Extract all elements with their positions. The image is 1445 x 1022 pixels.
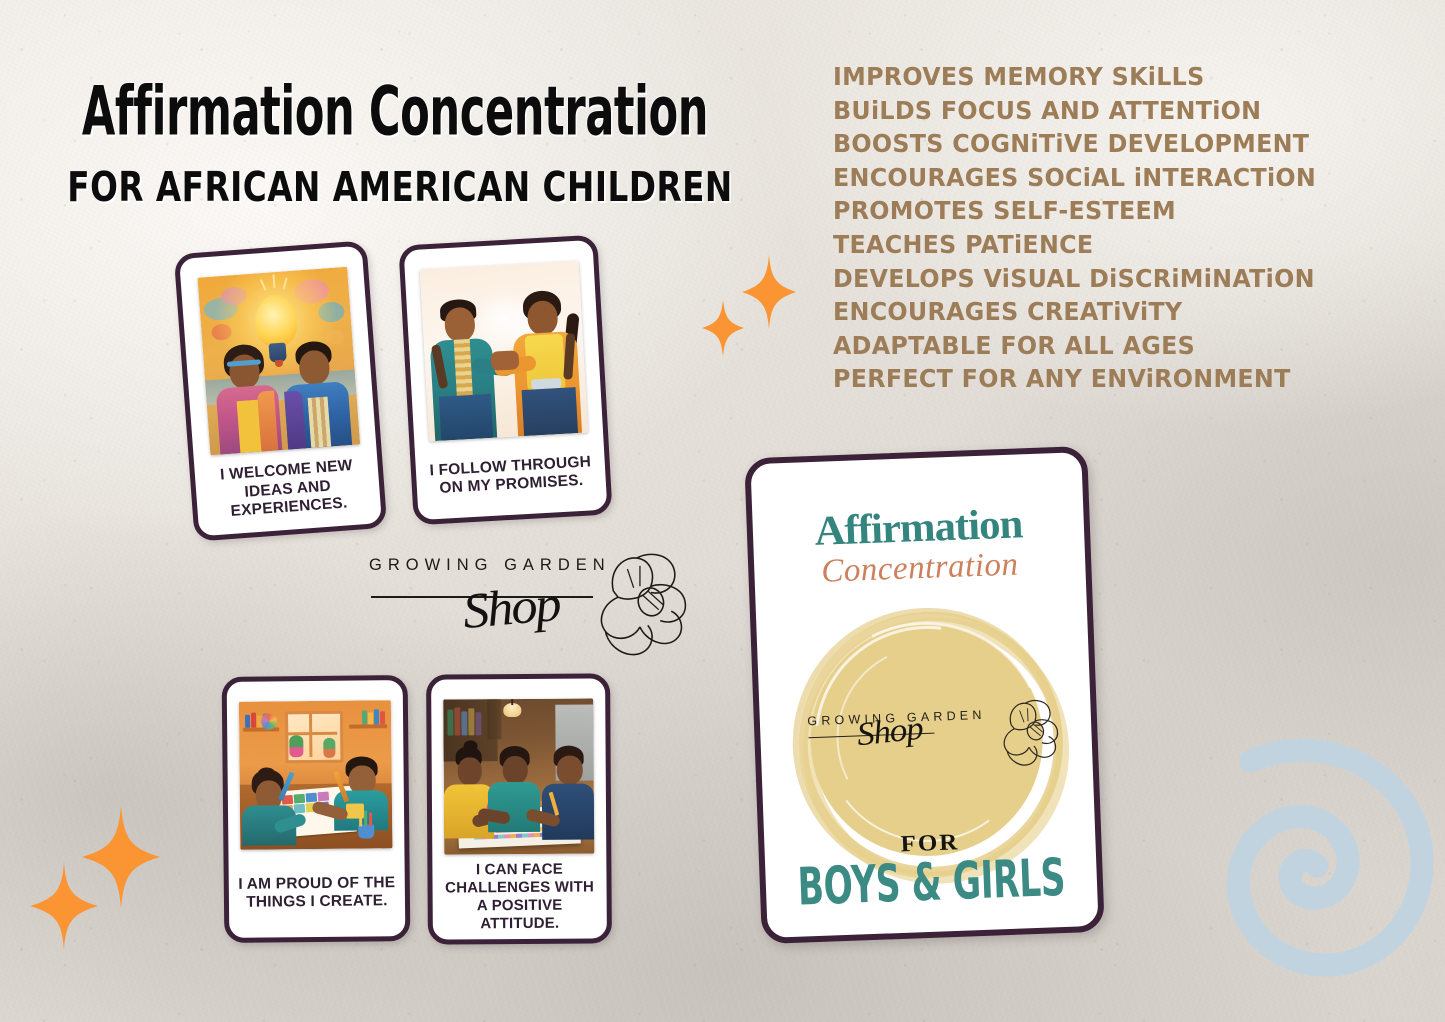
cover-brand-logo: GROWING GARDEN Shop	[807, 706, 1050, 791]
benefit-item: ENCOURAGES CREATiViTY	[833, 295, 1415, 329]
benefit-item: IMPROVES MEMORY SKiLLS	[833, 60, 1415, 94]
card-illustration-handshake	[420, 261, 588, 442]
affirmation-card-proud: I AM PROUD OF THE THINGS I CREATE.	[222, 675, 411, 943]
card-illustration-lightbulb-idea	[197, 267, 360, 456]
benefit-item: PROMOTES SELF-ESTEEM	[833, 194, 1415, 228]
sparkle-icon	[30, 862, 98, 950]
sparkle-icon	[742, 255, 796, 329]
magnolia-flower-icon	[561, 544, 697, 666]
card-caption: I WELCOME NEW IDEAS AND EXPERIENCES.	[194, 455, 381, 524]
card-illustration-kids-board-game	[443, 698, 594, 854]
page-title: Affirmation Concentration	[32, 72, 759, 152]
watermark-brand-logo: GROWING GARDEN Shop	[365, 548, 705, 663]
card-caption: I FOLLOW THROUGH ON MY PROMISES.	[415, 452, 606, 499]
affirmation-card-welcome: I WELCOME NEW IDEAS AND EXPERIENCES.	[174, 240, 388, 541]
poster-canvas: Affirmation Concentration FOR AFRICAN AM…	[0, 0, 1445, 1022]
spiral-swirl-icon	[1159, 714, 1445, 1014]
benefit-item: ADAPTABLE FOR ALL AGES	[833, 329, 1415, 363]
card-caption: I CAN FACE CHALLENGES WITH A POSITIVE AT…	[432, 860, 606, 933]
benefit-item: ENCOURAGES SOCiAL iNTERACTiON	[833, 161, 1415, 195]
benefits-list: IMPROVES MEMORY SKiLLS BUiLDS FOCUS AND …	[833, 60, 1433, 396]
card-caption: I AM PROUD OF THE THINGS I CREATE.	[229, 874, 405, 913]
cover-footer-boys-girls: BOYS & GIRLS	[791, 847, 1071, 918]
affirmation-card-follow-through: I FOLLOW THROUGH ON MY PROMISES.	[398, 235, 612, 526]
affirmation-card-challenges: I CAN FACE CHALLENGES WITH A POSITIVE AT…	[426, 673, 612, 944]
page-subtitle: FOR AFRICAN AMERICAN CHILDREN	[4, 162, 796, 211]
magnolia-flower-icon	[977, 693, 1066, 774]
benefit-item: BUiLDS FOCUS AND ATTENTiON	[833, 94, 1415, 128]
benefit-item: TEACHES PATiENCE	[833, 228, 1415, 262]
benefit-item: PERFECT FOR ANY ENViRONMENT	[833, 362, 1415, 396]
card-illustration-kids-drawing	[239, 700, 393, 850]
product-cover-card: Affirmation Concentration GROWING GARDEN…	[744, 446, 1105, 944]
sparkle-icon	[702, 300, 744, 356]
watermark-script-text: Shop	[460, 574, 561, 640]
benefit-item: BOOSTS COGNiTiVE DEVELOPMENT	[833, 127, 1415, 161]
benefit-item: DEVELOPS ViSUAL DiSCRiMiNATiON	[833, 262, 1415, 296]
